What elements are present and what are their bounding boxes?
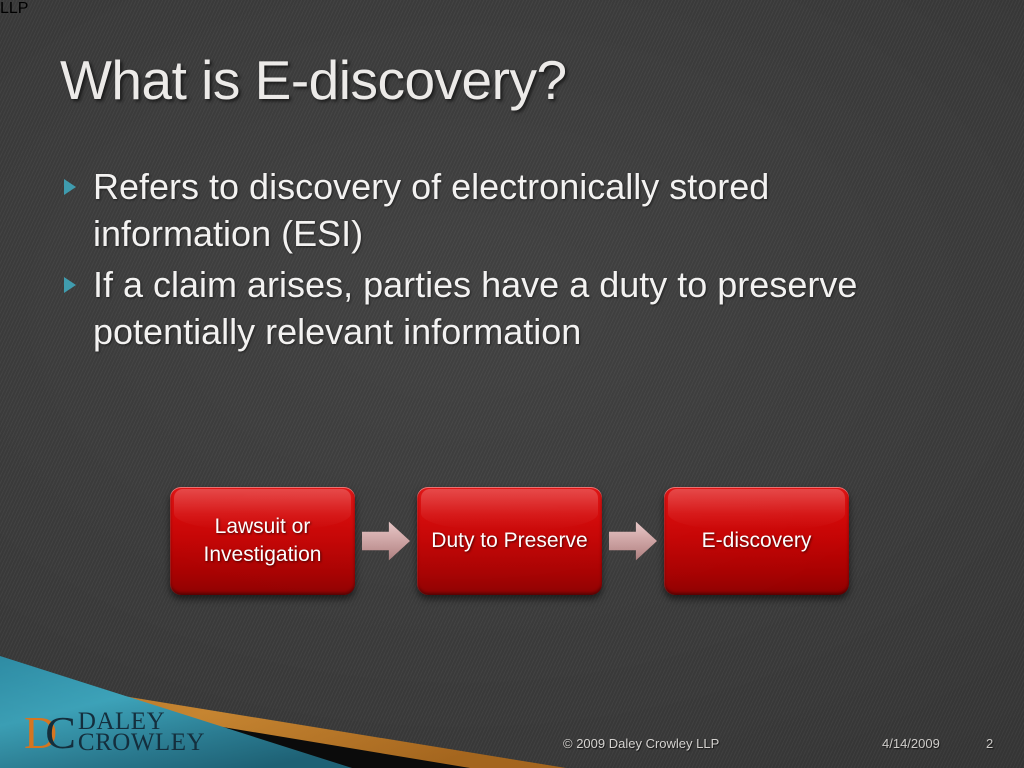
process-diagram: Lawsuit or Investigation Duty to Preserv…: [170, 487, 849, 595]
page-title: What is E-discovery?: [60, 48, 960, 112]
process-step-duty-to-preserve: Duty to Preserve: [417, 487, 602, 595]
logo: DC DALEY CROWLEY: [24, 706, 205, 752]
process-step-label: Lawsuit or Investigation: [178, 513, 347, 569]
process-step-lawsuit-or-investigation: Lawsuit or Investigation: [170, 487, 355, 595]
logo-monogram-d: D: [24, 707, 45, 758]
logo-monogram: DC: [24, 710, 64, 756]
list-item-text: Refers to discovery of electronically st…: [93, 163, 944, 257]
logo-wordmark: DALEY CROWLEY: [78, 711, 205, 753]
process-step-label: E-discovery: [702, 527, 812, 555]
list-item: Refers to discovery of electronically st…: [64, 163, 944, 257]
list-item: If a claim arises, parties have a duty t…: [64, 261, 944, 355]
process-step-label: Duty to Preserve: [431, 527, 587, 555]
process-step-e-discovery: E-discovery: [664, 487, 849, 595]
logo-line-2: CROWLEY: [78, 732, 205, 753]
triangle-right-icon: [64, 277, 82, 293]
slide: What is E-discovery? Refers to discovery…: [0, 0, 1024, 768]
slide-number: 2: [986, 736, 993, 751]
list-item-text: If a claim arises, parties have a duty t…: [93, 261, 944, 355]
corner-decoration: [0, 0, 1024, 768]
arrow-right-icon: [602, 510, 664, 572]
footer-copyright: © 2009 Daley Crowley LLP: [563, 736, 719, 751]
arrow-right-icon: [355, 510, 417, 572]
bullet-list: Refers to discovery of electronically st…: [64, 163, 944, 359]
triangle-right-icon: [64, 179, 82, 195]
logo-suffix: LLP: [0, 0, 28, 17]
logo-monogram-c: C: [45, 707, 64, 758]
footer-date: 4/14/2009: [882, 736, 940, 751]
